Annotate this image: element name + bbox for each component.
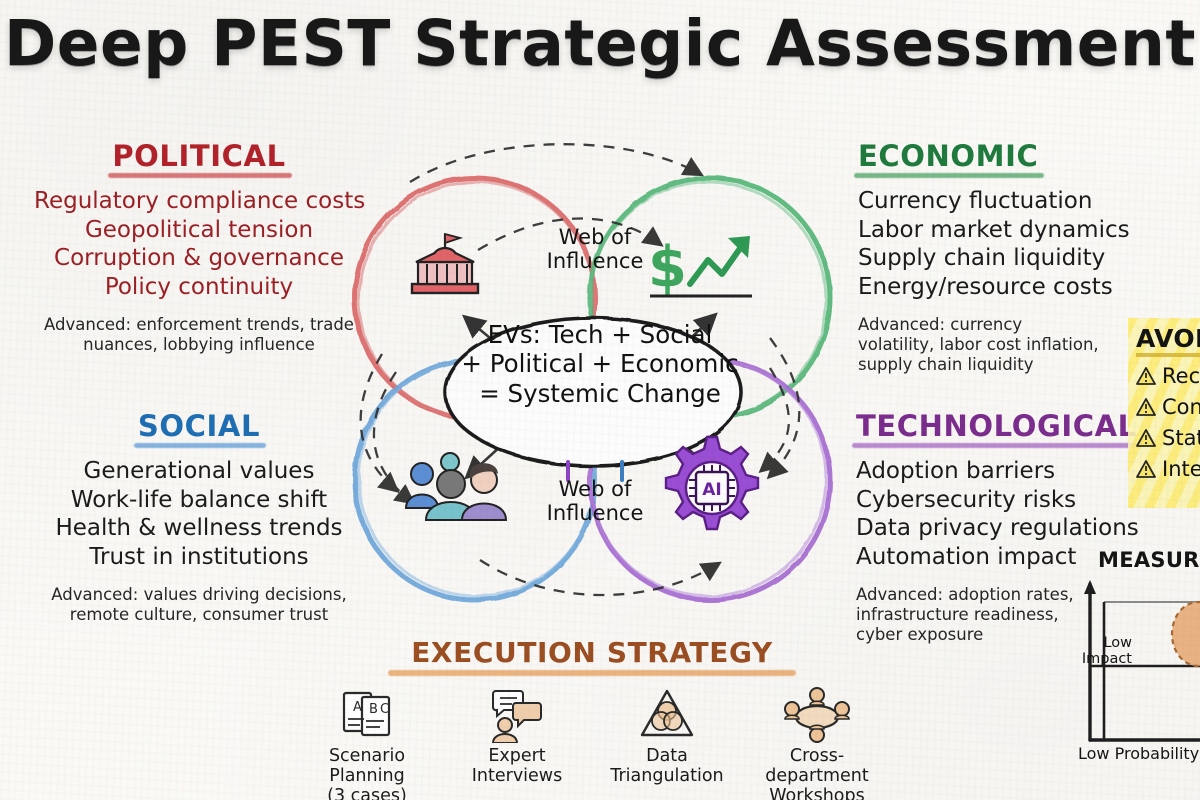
- svg-text:B: B: [369, 702, 378, 717]
- execution-item-label-line1: Cross-department: [742, 747, 892, 787]
- underline-technological: [852, 443, 1143, 448]
- list-item: Currency fluctuation: [858, 187, 1158, 216]
- underline-political: [108, 173, 291, 178]
- measuring-y-axis-label: Low Impact: [1070, 636, 1132, 668]
- measuring-matrix-section: MEASURING Low Impact Low Probability H: [1070, 548, 1200, 788]
- quadrant-economic: ECONOMIC Currency fluctuation Labor mark…: [858, 142, 1158, 374]
- warning-triangle-icon: [1136, 367, 1156, 385]
- warning-triangle-icon: [1136, 429, 1156, 447]
- quadrant-political-heading: POLITICAL: [112, 142, 285, 178]
- svg-text:AI: AI: [702, 480, 721, 500]
- svg-text:C: C: [380, 702, 389, 717]
- execution-strategy-heading: EXECUTION STRATEGY: [292, 636, 892, 675]
- execution-item-label-line2: Workshops: [742, 787, 892, 800]
- measuring-x-axis-label: Low Probability H: [1078, 744, 1200, 763]
- list-item: Data privacy regulations: [856, 514, 1156, 543]
- execution-item-label: Scenario Planning (3 cases): [292, 747, 442, 800]
- center-equation-text: EVs: Tech + Social + Political + Economi…: [450, 320, 750, 408]
- list-item: Labor market dynamics: [858, 216, 1158, 245]
- avoid-item-label: Interr: [1162, 457, 1200, 481]
- ai-gear-chip-icon: AI: [666, 437, 758, 529]
- execution-strategy-items: A B C Scenario Planning (3 cases): [292, 683, 892, 800]
- y-axis-line1: Low: [1070, 636, 1132, 652]
- people-group-icon: [406, 453, 506, 520]
- avoid-item: Recen: [1136, 364, 1200, 388]
- avoid-panel: AVOID Recen Confi Static: [1128, 318, 1200, 508]
- page-title: Deep PEST Strategic Assessment: [0, 12, 1200, 75]
- execution-item-data-triangulation[interactable]: Data Triangulation: [592, 683, 742, 800]
- documents-abc-icon: A B C: [292, 683, 442, 745]
- web-label-line2: Influence: [515, 502, 675, 526]
- warning-triangle-icon: [1136, 460, 1156, 478]
- center-line-2: + Political + Economic: [450, 349, 750, 378]
- web-label-line1: Web of: [515, 478, 675, 502]
- execution-item-label: Data Triangulation: [592, 747, 742, 787]
- avoid-item: Static: [1136, 426, 1200, 450]
- quadrant-social-heading: SOCIAL: [138, 412, 260, 448]
- avoid-item-label: Confi: [1162, 395, 1200, 419]
- execution-item-expert-interviews[interactable]: Expert Interviews: [442, 683, 592, 800]
- web-label-line2: Influence: [515, 250, 675, 274]
- list-item: Adoption barriers: [856, 457, 1156, 486]
- execution-item-label: Cross-department Workshops: [742, 747, 892, 800]
- execution-item-label-line1: Scenario Planning: [292, 747, 442, 787]
- web-of-influence-label-bottom: Web of Influence: [515, 478, 675, 525]
- underline-avoid: [1136, 353, 1200, 357]
- execution-item-label-line1: Expert: [442, 747, 592, 767]
- center-line-1: EVs: Tech + Social: [450, 320, 750, 349]
- underline-execution: [388, 670, 796, 676]
- triangle-venn-icon: [592, 683, 742, 745]
- speech-bubbles-person-icon: [442, 683, 592, 745]
- underline-social: [134, 443, 266, 448]
- execution-strategy-heading-text: EXECUTION STRATEGY: [411, 636, 773, 669]
- web-of-influence-diagram: $: [300, 140, 890, 640]
- whiteboard-canvas: Deep PEST Strategic Assessment POLITICAL…: [0, 0, 1200, 800]
- quadrant-political-heading-text: POLITICAL: [112, 139, 285, 173]
- svg-text:A: A: [353, 700, 362, 715]
- execution-item-cross-department-workshops[interactable]: Cross-department Workshops: [742, 683, 892, 800]
- execution-item-label-line2: Triangulation: [592, 767, 742, 787]
- avoid-item-label: Static: [1162, 426, 1200, 450]
- list-item: Supply chain liquidity: [858, 244, 1158, 273]
- center-line-3: = Systemic Change: [450, 379, 750, 408]
- quadrant-economic-advanced: Advanced: currency volatility, labor cos…: [858, 315, 1103, 374]
- execution-item-scenario-planning[interactable]: A B C Scenario Planning (3 cases): [292, 683, 442, 800]
- avoid-item: Confi: [1136, 395, 1200, 419]
- measuring-heading: MEASURING: [1098, 548, 1200, 572]
- avoid-item-label: Recen: [1162, 364, 1200, 388]
- execution-strategy-section: EXECUTION STRATEGY A B C Scenario Planni…: [292, 636, 892, 800]
- quadrant-technological-advanced: Advanced: adoption rates, infrastructure…: [856, 585, 1101, 644]
- avoid-heading-text: AVOID: [1136, 324, 1200, 353]
- meeting-table-icon: [742, 683, 892, 745]
- web-of-influence-label-top: Web of Influence: [515, 226, 675, 273]
- execution-item-label-line2: Interviews: [442, 767, 592, 787]
- quadrant-social-heading-text: SOCIAL: [138, 409, 260, 443]
- list-item: Cybersecurity risks: [856, 486, 1156, 515]
- execution-item-label-line1: Data: [592, 747, 742, 767]
- execution-item-label-line2: (3 cases): [292, 787, 442, 800]
- y-axis-line2: Impact: [1070, 652, 1132, 668]
- measuring-matrix-svg: [1070, 570, 1200, 770]
- government-building-icon: [412, 234, 478, 293]
- list-item: Energy/resource costs: [858, 273, 1158, 302]
- web-label-line1: Web of: [515, 226, 675, 250]
- avoid-item: Interr: [1136, 457, 1200, 481]
- execution-item-label: Expert Interviews: [442, 747, 592, 787]
- quadrant-economic-list: Currency fluctuation Labor market dynami…: [858, 187, 1158, 301]
- quadrant-technological-heading-text: TECHNOLOGICAL: [856, 409, 1137, 443]
- avoid-heading: AVOID: [1136, 324, 1200, 357]
- quadrant-technological-heading: TECHNOLOGICAL: [856, 412, 1137, 448]
- warning-triangle-icon: [1136, 398, 1156, 416]
